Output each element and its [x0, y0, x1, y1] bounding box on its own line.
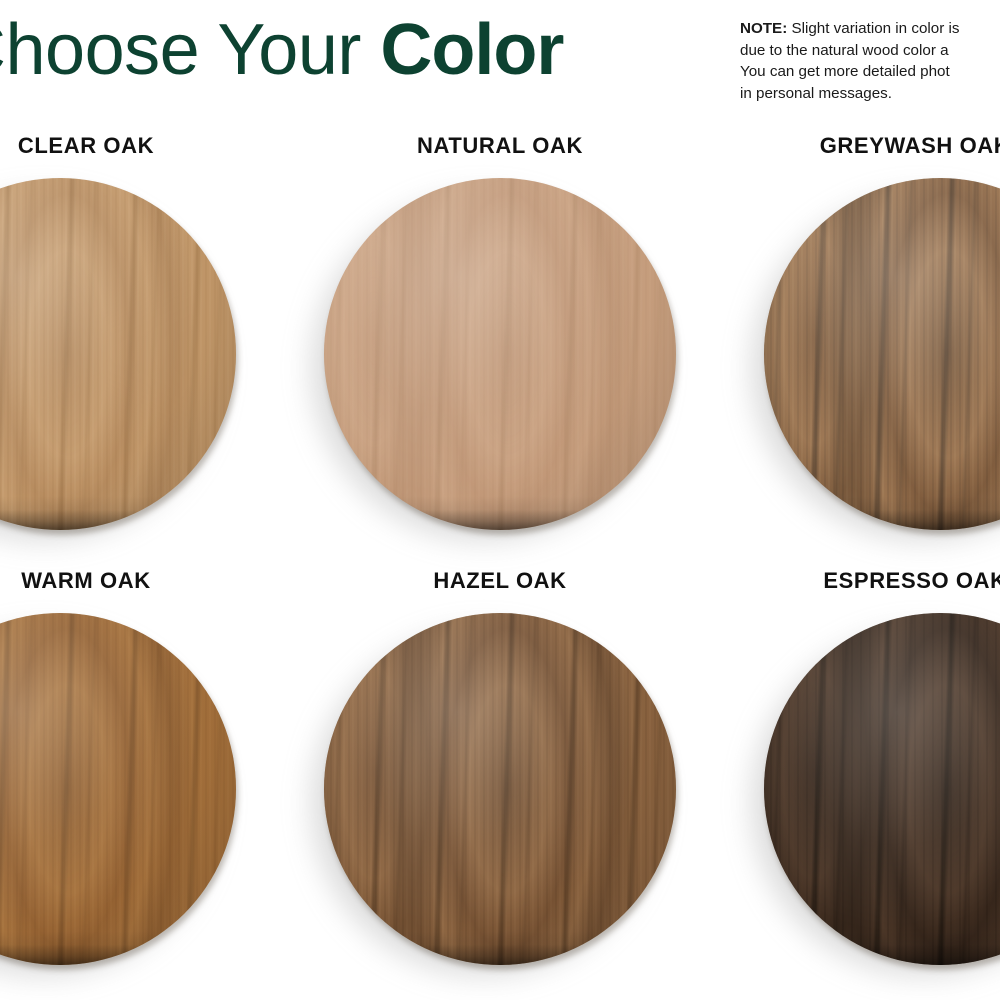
swatch-label: HAZEL OAK [433, 568, 566, 594]
disc-face [0, 178, 236, 530]
disc-face [764, 613, 1000, 965]
disc-face [324, 178, 676, 530]
disc-face [324, 613, 676, 965]
disc-face [764, 178, 1000, 530]
page-title-bold: Color [380, 10, 563, 90]
wood-swatch-disc[interactable] [764, 178, 1000, 530]
wood-grain-texture [764, 613, 1000, 965]
note-line-3: You can get more detailed phot [740, 61, 1000, 83]
wood-swatch-disc[interactable] [0, 613, 236, 965]
wood-grain-texture [764, 178, 1000, 530]
note-line-1-text: Slight variation in color is [787, 20, 959, 37]
note-line-1: NOTE: Slight variation in color is [740, 18, 1000, 40]
swatch-label: WARM OAK [21, 568, 150, 594]
page-title-regular: Choose Your [0, 10, 380, 90]
wood-grain-texture [0, 613, 236, 965]
wood-grain-texture [324, 178, 676, 530]
disc-face [0, 613, 236, 965]
wood-grain-texture [0, 178, 236, 530]
note-label: NOTE: [740, 20, 787, 37]
swatch-label: NATURAL OAK [417, 133, 583, 159]
swatch-label: ESPRESSO OAK [823, 568, 1000, 594]
note-block: NOTE: Slight variation in color is due t… [740, 18, 1000, 104]
wood-swatch-disc[interactable] [324, 178, 676, 530]
swatch-label: CLEAR OAK [18, 133, 154, 159]
swatch-label: GREYWASH OAK [820, 133, 1000, 159]
wood-swatch-disc[interactable] [324, 613, 676, 965]
wood-swatch-disc[interactable] [764, 613, 1000, 965]
note-line-4: in personal messages. [740, 83, 1000, 105]
wood-swatch-disc[interactable] [0, 178, 236, 530]
page-title: Choose Your Color [0, 14, 563, 86]
wood-grain-texture [324, 613, 676, 965]
note-line-2: due to the natural wood color a [740, 40, 1000, 62]
color-swatch-poster: Choose Your Color NOTE: Slight variation… [0, 0, 1000, 1000]
